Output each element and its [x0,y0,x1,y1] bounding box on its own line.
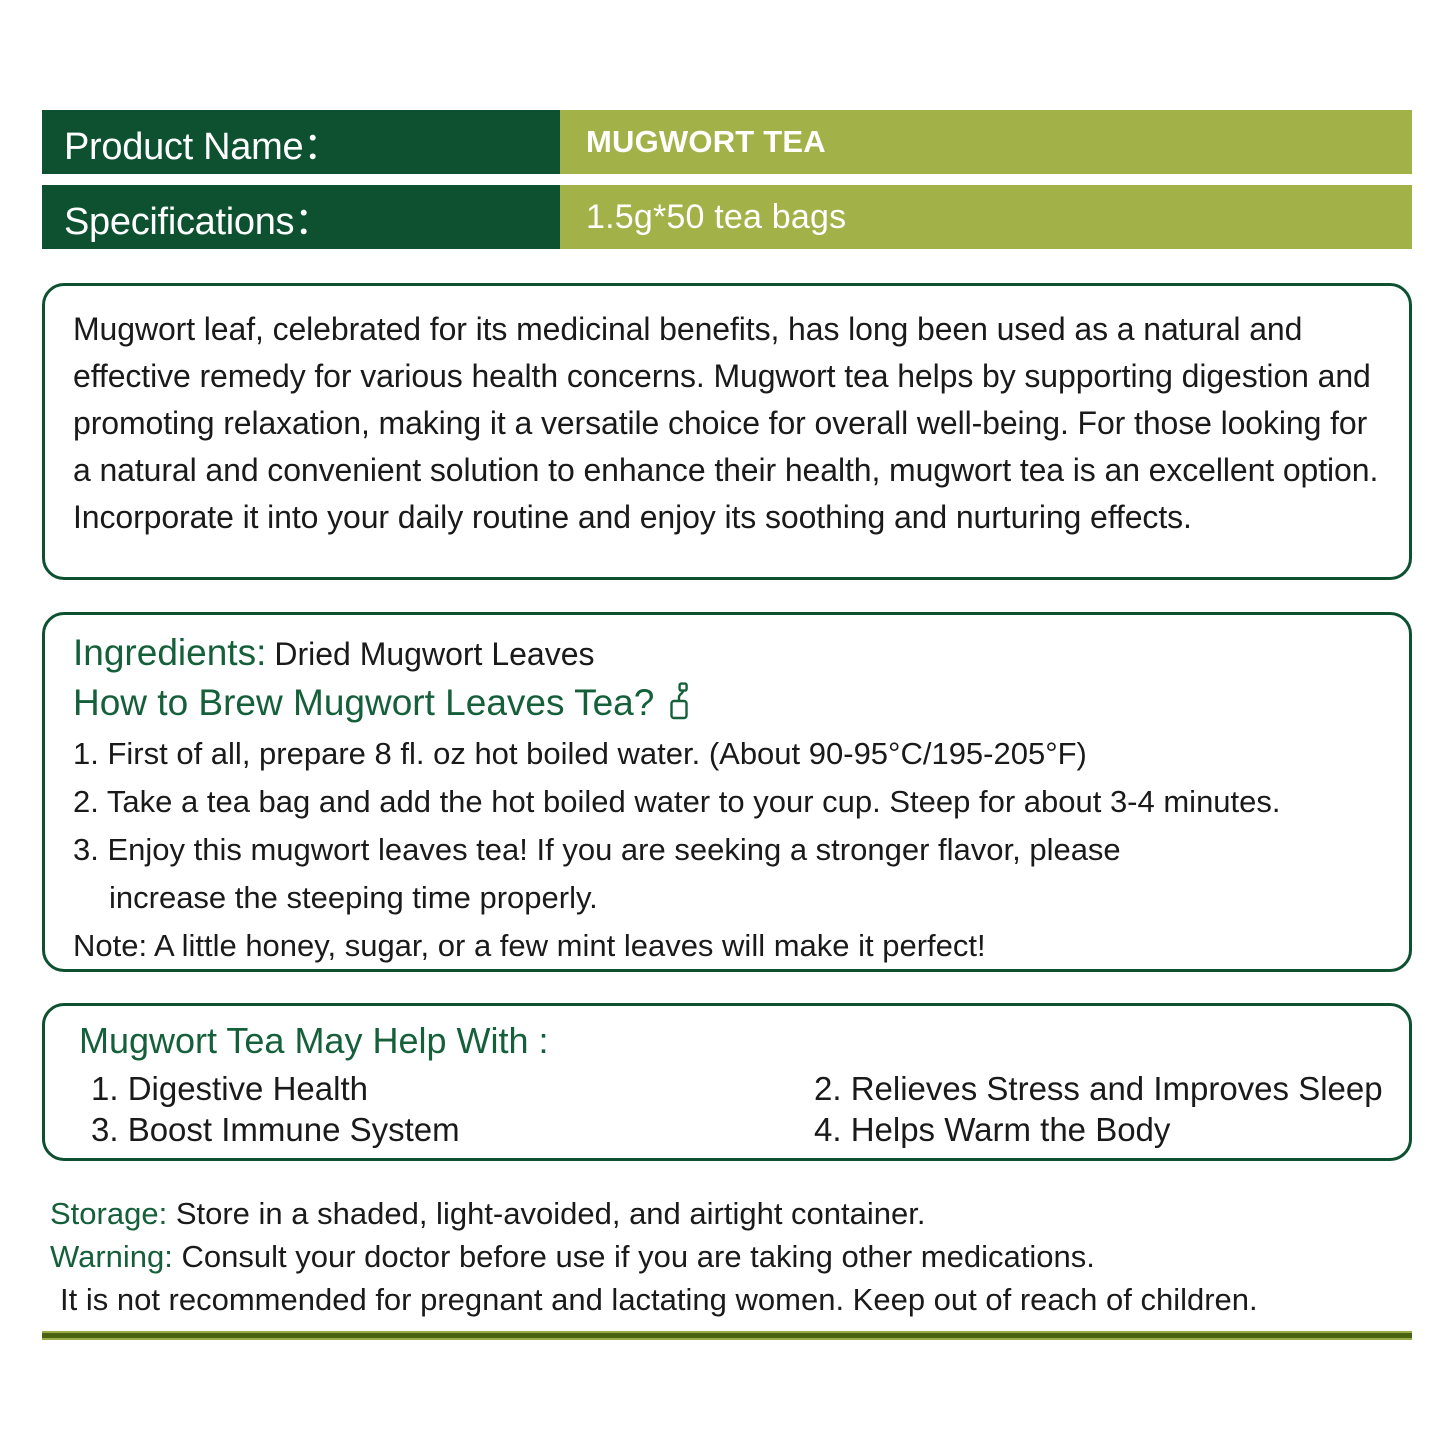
spec-key-product-name: Product Name： [42,110,560,174]
brew-question-heading: How to Brew Mugwort Leaves Tea? [73,678,1383,728]
ingredients-line: Ingredients:Dried Mugwort Leaves [73,629,1383,678]
specification-table: Product Name： MUGWORT TEA Specifications… [42,110,1412,260]
brew-step-1: 1. First of all, prepare 8 fl. oz hot bo… [73,730,1383,778]
brew-step-2: 2. Take a tea bag and add the hot boiled… [73,778,1383,826]
footer-notes: Storage: Store in a shaded, light-avoide… [50,1192,1420,1321]
benefit-item: 1. Digestive Health [91,1068,814,1109]
storage-line: Storage: Store in a shaded, light-avoide… [50,1192,1420,1235]
spec-key-specifications: Specifications： [42,185,560,249]
brew-step-3: 3. Enjoy this mugwort leaves tea! If you… [73,826,1383,874]
benefits-title: Mugwort Tea May Help With : [79,1016,1383,1066]
benefits-grid: 1. Digestive Health 3. Boost Immune Syst… [79,1068,1383,1150]
storage-label: Storage: [50,1196,167,1231]
benefits-panel: Mugwort Tea May Help With : 1. Digestive… [42,1003,1412,1161]
warning-line-continued: It is not recommended for pregnant and l… [50,1278,1420,1321]
brew-note: Note: A little honey, sugar, or a few mi… [73,922,1383,970]
benefit-item: 4. Helps Warm the Body [814,1109,1383,1150]
spec-value-product-name: MUGWORT TEA [560,110,1412,174]
product-label-sheet: Product Name： MUGWORT TEA Specifications… [0,0,1445,1445]
ingredients-value: Dried Mugwort Leaves [274,636,594,672]
warning-text: Consult your doctor before use if you ar… [182,1239,1095,1274]
brew-steps-list: 1. First of all, prepare 8 fl. oz hot bo… [73,730,1383,922]
spec-row-specifications: Specifications： 1.5g*50 tea bags [42,185,1412,249]
tea-bag-icon [666,681,692,721]
benefit-item: 2. Relieves Stress and Improves Sleep [814,1068,1383,1109]
benefits-column-right: 2. Relieves Stress and Improves Sleep 4.… [814,1068,1383,1150]
brewing-panel: Ingredients:Dried Mugwort Leaves How to … [42,612,1412,972]
spec-row-product-name: Product Name： MUGWORT TEA [42,110,1412,174]
brew-step-3-continued: increase the steeping time properly. [73,874,1383,922]
spec-value-specifications: 1.5g*50 tea bags [560,185,1412,249]
bottom-divider-rule [42,1331,1412,1340]
brew-question-text: How to Brew Mugwort Leaves Tea? [73,678,654,728]
warning-line: Warning: Consult your doctor before use … [50,1235,1420,1278]
ingredients-label: Ingredients: [73,632,266,673]
benefit-item: 3. Boost Immune System [91,1109,814,1150]
storage-text: Store in a shaded, light-avoided, and ai… [176,1196,926,1231]
warning-label: Warning: [50,1239,173,1274]
description-text: Mugwort leaf, celebrated for its medicin… [45,286,1409,541]
benefits-column-left: 1. Digestive Health 3. Boost Immune Syst… [79,1068,814,1150]
description-panel: Mugwort leaf, celebrated for its medicin… [42,283,1412,580]
